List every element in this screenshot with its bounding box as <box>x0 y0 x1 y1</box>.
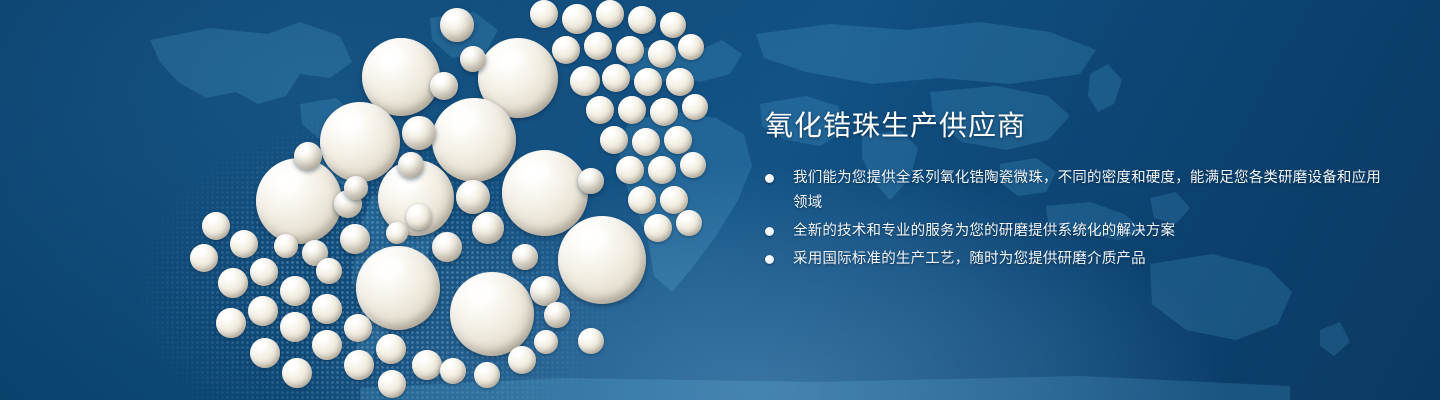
product-image-zirconia-beads <box>130 0 730 400</box>
bullet-circle-icon <box>765 174 774 183</box>
hero-banner: 氧化锆珠生产供应商 我们能为您提供全系列氧化锆陶瓷微珠，不同的密度和硬度，能满足… <box>0 0 1440 400</box>
list-item: 我们能为您提供全系列氧化锆陶瓷微珠，不同的密度和硬度，能满足您各类研磨设备和应用… <box>765 166 1385 216</box>
banner-copy: 氧化锆珠生产供应商 我们能为您提供全系列氧化锆陶瓷微珠，不同的密度和硬度，能满足… <box>765 108 1385 275</box>
halftone-texture <box>120 0 760 400</box>
page-title: 氧化锆珠生产供应商 <box>765 108 1385 144</box>
bullet-circle-icon <box>765 227 774 236</box>
list-item: 采用国际标准的生产工艺，随时为您提供研磨介质产品 <box>765 247 1385 272</box>
feature-text: 我们能为您提供全系列氧化锆陶瓷微珠，不同的密度和硬度，能满足您各类研磨设备和应用… <box>793 170 1381 211</box>
feature-text: 采用国际标准的生产工艺，随时为您提供研磨介质产品 <box>793 251 1146 267</box>
feature-list: 我们能为您提供全系列氧化锆陶瓷微珠，不同的密度和硬度，能满足您各类研磨设备和应用… <box>765 166 1385 272</box>
list-item: 全新的技术和专业的服务为您的研磨提供系统化的解决方案 <box>765 219 1385 244</box>
feature-text: 全新的技术和专业的服务为您的研磨提供系统化的解决方案 <box>793 223 1175 239</box>
bullet-circle-icon <box>765 255 774 264</box>
